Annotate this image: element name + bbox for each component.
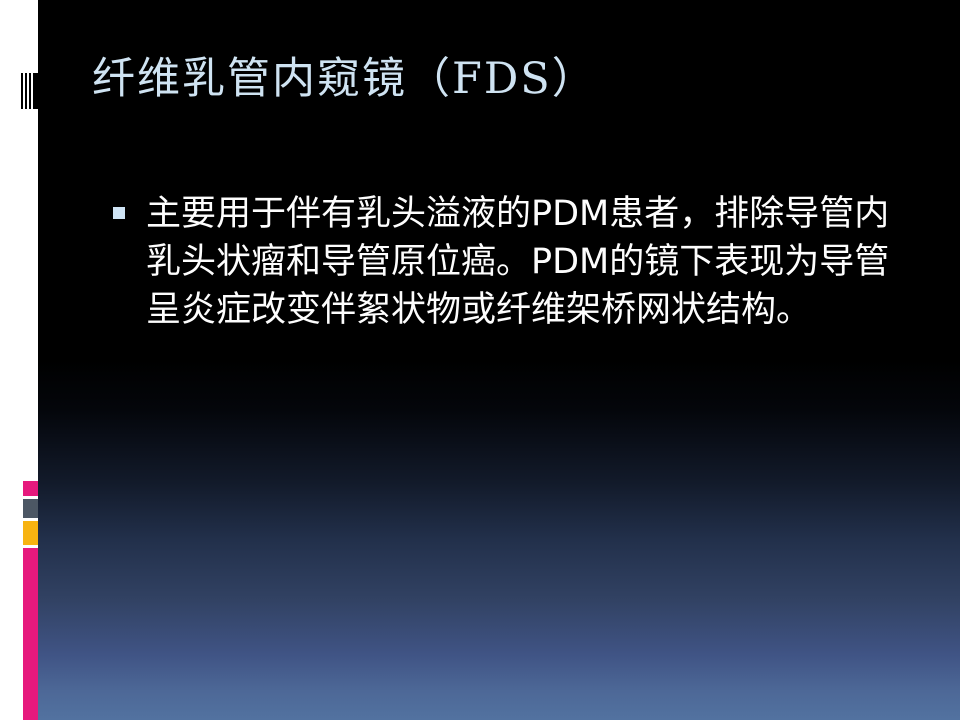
- barcode-stripes-icon: [21, 73, 38, 109]
- bullet-item: 主要用于伴有乳头溢液的PDM患者，排除导管内乳头状瘤和导管原位癌。PDM的镜下表…: [113, 190, 913, 334]
- bullet-text: 主要用于伴有乳头溢液的PDM患者，排除导管内乳头状瘤和导管原位癌。PDM的镜下表…: [146, 190, 913, 334]
- slide-background: [0, 0, 960, 720]
- magenta-bar: [23, 548, 38, 720]
- presentation-slide: 纤维乳管内窥镜（FDS） 主要用于伴有乳头溢液的PDM患者，排除导管内乳头状瘤和…: [0, 0, 960, 720]
- slide-body: 主要用于伴有乳头溢液的PDM患者，排除导管内乳头状瘤和导管原位癌。PDM的镜下表…: [113, 190, 913, 334]
- magenta-chip: [23, 481, 38, 496]
- barcode-stripe: [33, 73, 38, 109]
- slate-chip: [23, 499, 38, 518]
- barcode-stripe: [25, 73, 27, 109]
- barcode-stripe: [29, 73, 31, 109]
- square-bullet-icon: [113, 207, 125, 219]
- slide-title: 纤维乳管内窥镜（FDS）: [92, 53, 922, 105]
- amber-chip: [23, 521, 38, 545]
- barcode-stripe: [21, 73, 23, 109]
